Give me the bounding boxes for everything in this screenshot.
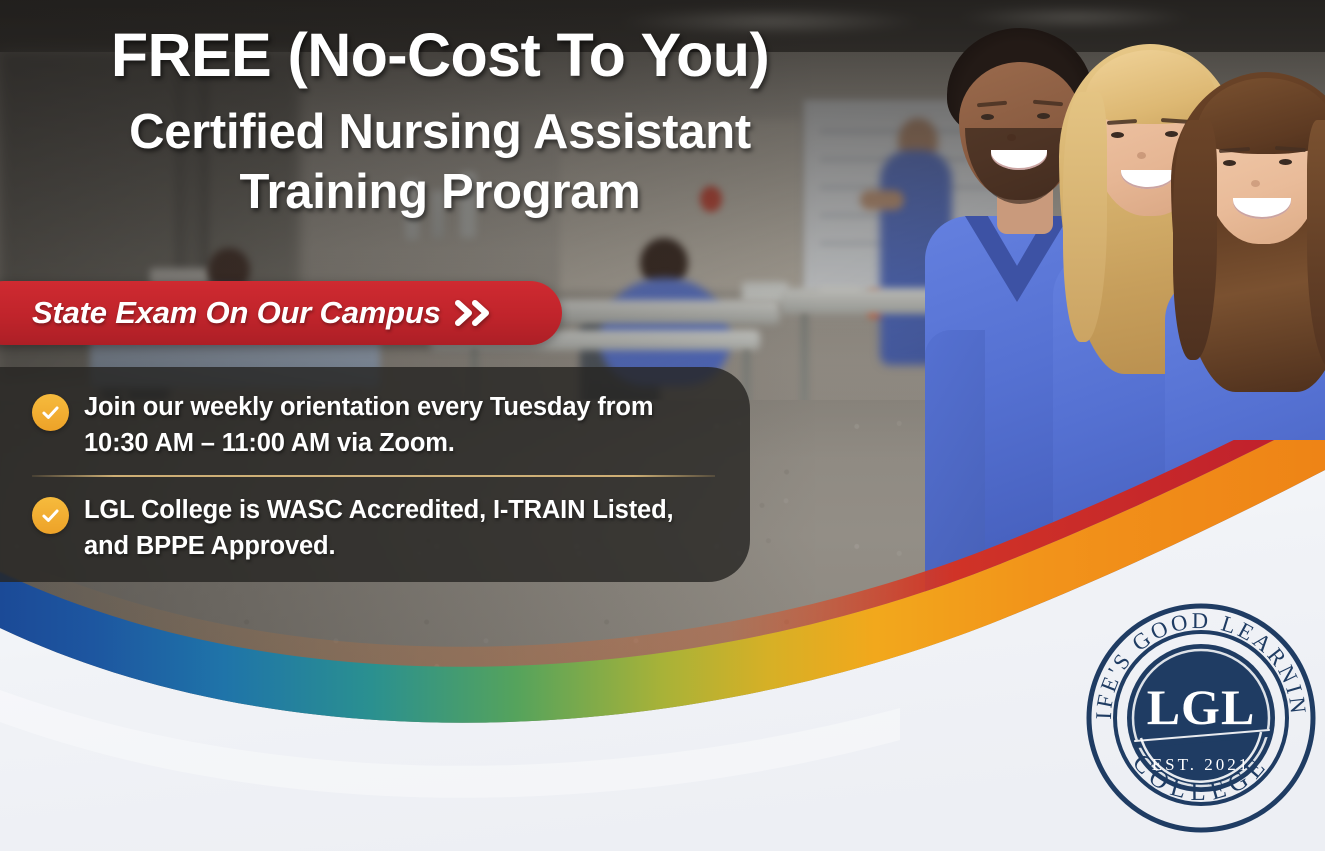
state-exam-cta-banner[interactable]: State Exam On Our Campus (0, 281, 562, 345)
double-chevron-right-icon (454, 299, 494, 327)
info-bullet-2: LGL College is WASC Accredited, I-TRAIN … (32, 492, 710, 564)
lgl-college-logo-seal: LIFE'S GOOD LEARNING COLLEGE LGL EST. 20… (1085, 602, 1317, 834)
headline-block: FREE (No-Cost To You) Certified Nursing … (0, 24, 880, 222)
info-card: Join our weekly orientation every Tuesda… (0, 367, 750, 582)
headline-line-1: FREE (No-Cost To You) (0, 24, 880, 86)
info-bullet-1-text: Join our weekly orientation every Tuesda… (84, 389, 710, 461)
card-divider (32, 475, 715, 477)
promotional-banner: FREE (No-Cost To You) Certified Nursing … (0, 0, 1325, 851)
headline-line-2: Certified Nursing Assistant (0, 104, 880, 162)
check-circle-icon (32, 394, 69, 431)
seal-established-text: EST. 2021 (1152, 755, 1250, 774)
check-circle-icon (32, 497, 69, 534)
info-bullet-1: Join our weekly orientation every Tuesda… (32, 389, 710, 461)
seal-monogram: LGL (1147, 679, 1256, 735)
headline-line-3: Training Program (0, 164, 880, 222)
info-bullet-2-text: LGL College is WASC Accredited, I-TRAIN … (84, 492, 710, 564)
cta-label: State Exam On Our Campus (32, 295, 441, 331)
